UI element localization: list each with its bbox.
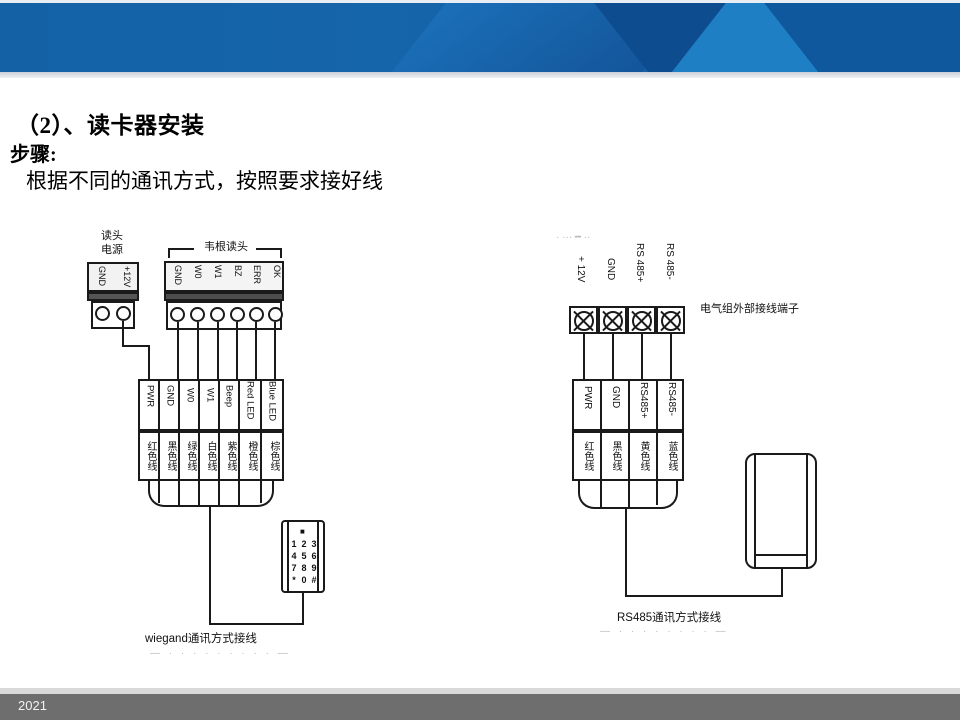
rs485-terminal-label-485p: RS 485+ — [634, 243, 644, 303]
wiegand-reader-label: 韦根读头 — [196, 241, 256, 254]
wire-color-black: 黑色线 — [162, 435, 176, 477]
wiegand-color-div-4 — [218, 431, 220, 481]
gather-div-1 — [158, 481, 160, 503]
wire-color-brown: 棕色线 — [265, 435, 279, 477]
wiegand-cable-across — [209, 623, 304, 625]
wire-color-purple: 紫色线 — [222, 435, 236, 477]
signal-label-w1: W1 — [205, 388, 215, 430]
wiegand-screw-2 — [190, 307, 205, 322]
keypad-key-0[interactable]: 0 — [299, 574, 309, 586]
keypad-key-4[interactable]: 4 — [289, 550, 299, 562]
rs485-cable-to-reader — [781, 568, 783, 597]
wire-w0 — [197, 322, 199, 379]
wire-color-orange: 橙色线 — [243, 435, 257, 477]
wire-beep — [236, 322, 238, 379]
signal-label-pwr: PWR — [145, 385, 155, 427]
rs485-wire-color-red: 红色线 — [579, 435, 593, 477]
rs485-screw-485p — [627, 306, 656, 334]
wiegand-color-div-6 — [260, 431, 262, 481]
rs485-terminal-side-label: 电气组外部接线端子 — [700, 303, 830, 316]
rs485-cable-across — [625, 595, 783, 597]
wiegand-caption-ghost: — · · · · · · · · · — — [150, 648, 291, 659]
rs485-gather-div-1 — [600, 481, 602, 509]
wiegand-signal-div-6 — [260, 379, 262, 431]
wire-power-down — [122, 321, 124, 345]
rs485-terminal-label-485m: RS 485- — [664, 243, 674, 303]
wiegand-bracket-left-stem — [168, 248, 170, 258]
keypad-key-8[interactable]: 8 — [299, 562, 309, 574]
wiegand-color-div-3 — [198, 431, 200, 481]
steps-label: 步骤: — [10, 138, 57, 167]
wiegand-terminal-label-ok: OK — [272, 265, 281, 290]
gather-div-4 — [218, 481, 220, 507]
rs485-caption-ghost: — · · · · · · · · — — [600, 626, 729, 637]
wire-power-to-pwr — [148, 345, 150, 379]
reader-power-label-line2: 电源 — [88, 244, 136, 257]
wiegand-cable-gather — [148, 481, 274, 507]
wiegand-caption: wiegand通讯方式接线 — [145, 630, 257, 646]
wiegand-bracket-right-stem — [280, 248, 282, 258]
wiegand-screw-3 — [210, 307, 225, 322]
rs485-signal-label-485p: RS485+ — [638, 382, 648, 428]
rs485-screw-12v — [569, 306, 598, 334]
wire-color-red: 红色线 — [142, 435, 156, 477]
rs485-wire-485m — [670, 334, 672, 379]
gather-div-3 — [198, 481, 200, 507]
wiegand-screw-6 — [268, 307, 283, 322]
footer-year: 2021 — [18, 698, 47, 713]
rs485-wire-pwr — [583, 334, 585, 379]
header-banner — [0, 0, 960, 72]
rs485-wire-gnd — [612, 334, 614, 379]
power-terminal-12v-label: +12V — [122, 266, 131, 290]
rs485-screw-485p-ring — [632, 311, 652, 331]
rs485-wire-color-black: 黑色线 — [607, 435, 621, 477]
wire-gnd — [177, 322, 179, 379]
power-terminal-foot — [87, 292, 139, 301]
rs485-wire-485p — [641, 334, 643, 379]
rs485-signal-label-485m: RS485- — [666, 382, 676, 428]
wire-color-white: 白色线 — [202, 435, 216, 477]
rs485-faint-heading: · ··· ━ ·· — [556, 232, 590, 243]
signal-label-blue-led: Blue LED — [267, 381, 277, 429]
wiegand-color-div-1 — [158, 431, 160, 481]
wiegand-signal-div-2 — [178, 379, 180, 431]
rs485-signal-div-3 — [656, 379, 658, 431]
rs485-wire-color-blue: 蓝色线 — [663, 435, 677, 477]
wiegand-screw-4 — [230, 307, 245, 322]
rs485-signal-div-2 — [628, 379, 630, 431]
signal-label-beep: Beep — [224, 385, 234, 427]
wiegand-terminal-label-w0: W0 — [193, 265, 202, 290]
wiegand-color-div-2 — [178, 431, 180, 481]
keypad-key-6[interactable]: 6 — [309, 550, 319, 562]
footer-bar: 2021 — [0, 694, 960, 720]
keypad-key-5[interactable]: 5 — [299, 550, 309, 562]
rs485-terminal-label-12v: + 12V — [575, 256, 585, 302]
power-terminal-screw-12v — [116, 306, 131, 321]
wiegand-bracket-left-top — [168, 248, 194, 250]
wiegand-terminal-label-w1: W1 — [213, 265, 222, 290]
banner-underline — [0, 72, 960, 78]
wiegand-cable-to-reader — [302, 593, 304, 625]
power-terminal-screw-gnd — [95, 306, 110, 321]
keypad-key-2[interactable]: 2 — [299, 538, 309, 550]
wiegand-signal-div-3 — [198, 379, 200, 431]
keypad-key-9[interactable]: 9 — [309, 562, 319, 574]
rs485-reader-base-line — [754, 554, 808, 556]
wiegand-color-div-5 — [238, 431, 240, 481]
wiegand-bracket-right-top — [256, 248, 282, 250]
steps-description: 根据不同的通讯方式，按照要求接好线 — [26, 165, 383, 195]
keypad-indicator-icon: ■ — [300, 527, 305, 536]
rs485-terminal-label-gnd: GND — [605, 258, 615, 302]
keypad-key-star[interactable]: * — [289, 574, 299, 586]
rs485-signal-div-1 — [600, 379, 602, 431]
rs485-gather-div-2 — [628, 481, 630, 509]
banner-top-rim — [0, 0, 960, 3]
wire-color-green: 绿色线 — [182, 435, 196, 477]
keypad-key-1[interactable]: 1 — [289, 538, 299, 550]
keypad-key-7[interactable]: 7 — [289, 562, 299, 574]
wiegand-signal-div-1 — [158, 379, 160, 431]
wiegand-signal-div-5 — [238, 379, 240, 431]
wire-red-led — [255, 322, 257, 379]
wiegand-screw-5 — [249, 307, 264, 322]
wiegand-terminal-foot — [164, 292, 284, 301]
rs485-gather-div-3 — [656, 481, 658, 505]
wire-blue-led — [274, 322, 276, 379]
gather-div-5 — [238, 481, 240, 507]
wiegand-cable-down — [209, 507, 211, 625]
rs485-wire-color-yellow: 黄色线 — [635, 435, 649, 477]
rs485-signal-label-pwr: PWR — [582, 386, 592, 426]
rs485-screw-485m-ring — [661, 311, 681, 331]
rs485-screw-gnd — [598, 306, 627, 334]
rs485-caption: RS485通讯方式接线 — [617, 609, 721, 625]
wire-w1 — [217, 322, 219, 379]
keypad-key-hash[interactable]: # — [309, 574, 319, 586]
rs485-color-div-2 — [628, 431, 630, 481]
rs485-screw-485m — [656, 306, 685, 334]
page-title: （2）、读卡器安装 — [16, 106, 205, 140]
wiegand-screw-1 — [170, 307, 185, 322]
signal-label-w0: W0 — [185, 388, 195, 430]
rs485-screw-gnd-ring — [603, 311, 623, 331]
gather-div-6 — [260, 481, 262, 503]
rs485-color-div-1 — [600, 431, 602, 481]
wiegand-terminal-label-err: ERR — [252, 265, 261, 290]
rs485-reader-bezel — [754, 453, 808, 569]
wiegand-terminal-label-bz: BZ — [233, 265, 242, 290]
reader-power-label-line1: 读头 — [88, 230, 136, 243]
signal-label-gnd: GND — [165, 385, 175, 427]
wiegand-signal-div-4 — [218, 379, 220, 431]
rs485-signal-label-gnd: GND — [610, 386, 620, 426]
wire-power-across — [122, 345, 150, 347]
signal-label-red-led: Red LED — [245, 381, 255, 429]
keypad-key-3[interactable]: 3 — [309, 538, 319, 550]
rs485-color-div-3 — [656, 431, 658, 481]
rs485-cable-down — [625, 509, 627, 597]
gather-div-2 — [178, 481, 180, 507]
keypad-grid[interactable]: 1 2 3 4 5 6 7 8 9 * 0 # — [289, 538, 319, 586]
rs485-screw-12v-ring — [574, 311, 594, 331]
power-terminal-gnd-label: GND — [97, 266, 106, 290]
wiegand-terminal-label-gnd: GND — [173, 265, 182, 290]
